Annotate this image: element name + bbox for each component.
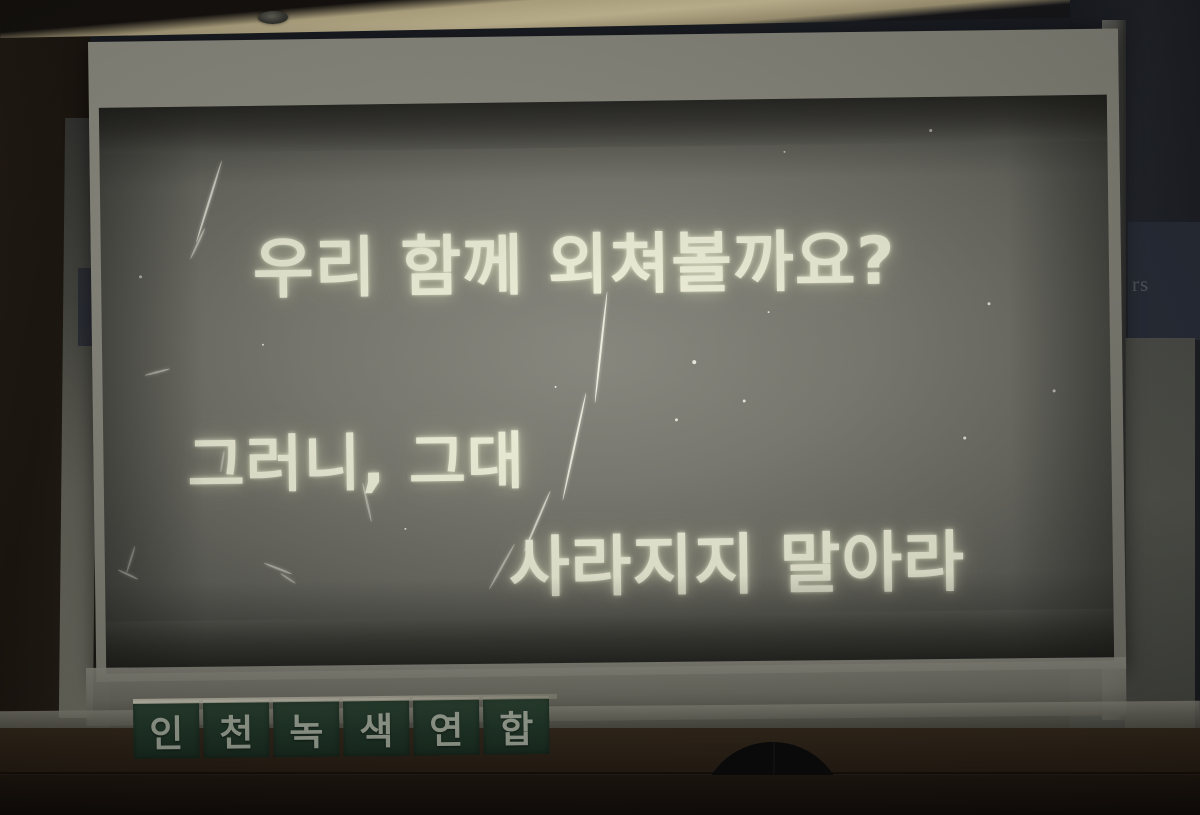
dust-speck	[555, 386, 557, 388]
projection-screen-frame: 우리 함께 외쳐볼까요? 그러니, 그대 사라지지 말아라	[88, 29, 1126, 682]
dust-speck	[675, 418, 678, 421]
dust-speck	[404, 528, 406, 530]
banner-char: 인	[149, 703, 184, 757]
right-wall-label: rs	[1132, 272, 1149, 297]
banner-char: 천	[219, 703, 254, 757]
dust-speck	[262, 344, 264, 346]
dust-speck	[768, 311, 770, 313]
foreground-floor	[0, 775, 1200, 815]
banner-block: 연	[413, 697, 480, 756]
banner-char: 합	[499, 699, 534, 753]
banner-char: 색	[359, 701, 394, 755]
dust-speck	[929, 129, 932, 132]
projection-screen-surface: 우리 함께 외쳐볼까요? 그러니, 그대 사라지지 말아라	[99, 95, 1114, 674]
banner-block: 인	[133, 700, 200, 759]
dust-speck	[692, 360, 696, 364]
banner-char: 연	[429, 700, 464, 754]
slide-line-2: 그러니, 그대	[187, 410, 525, 504]
dust-speck	[987, 302, 990, 305]
slide-line-1: 우리 함께 외쳐볼까요?	[252, 207, 896, 311]
banner-block: 녹	[273, 698, 340, 757]
right-wall-gray-panel	[1125, 338, 1195, 738]
organization-banner: 인 천 녹 색 연 합	[133, 696, 550, 759]
dust-speck	[139, 275, 142, 278]
banner-block: 합	[483, 696, 550, 755]
photo-scene: rs 우리 함께 외쳐볼까요? 그러니, 그대 사라지지 말아라	[0, 0, 1200, 815]
slide-line-3: 사라지지 말아라	[508, 509, 965, 611]
dust-speck	[743, 399, 746, 402]
stage-front-seam	[0, 772, 1200, 774]
banner-block: 천	[203, 699, 270, 758]
dust-speck	[783, 151, 785, 153]
dust-speck	[1053, 389, 1056, 392]
banner-block: 색	[343, 698, 410, 757]
banner-char: 녹	[289, 702, 324, 756]
dust-speck	[963, 437, 966, 440]
slide-text-block: 우리 함께 외쳐볼까요? 그러니, 그대 사라지지 말아라	[99, 95, 1114, 674]
